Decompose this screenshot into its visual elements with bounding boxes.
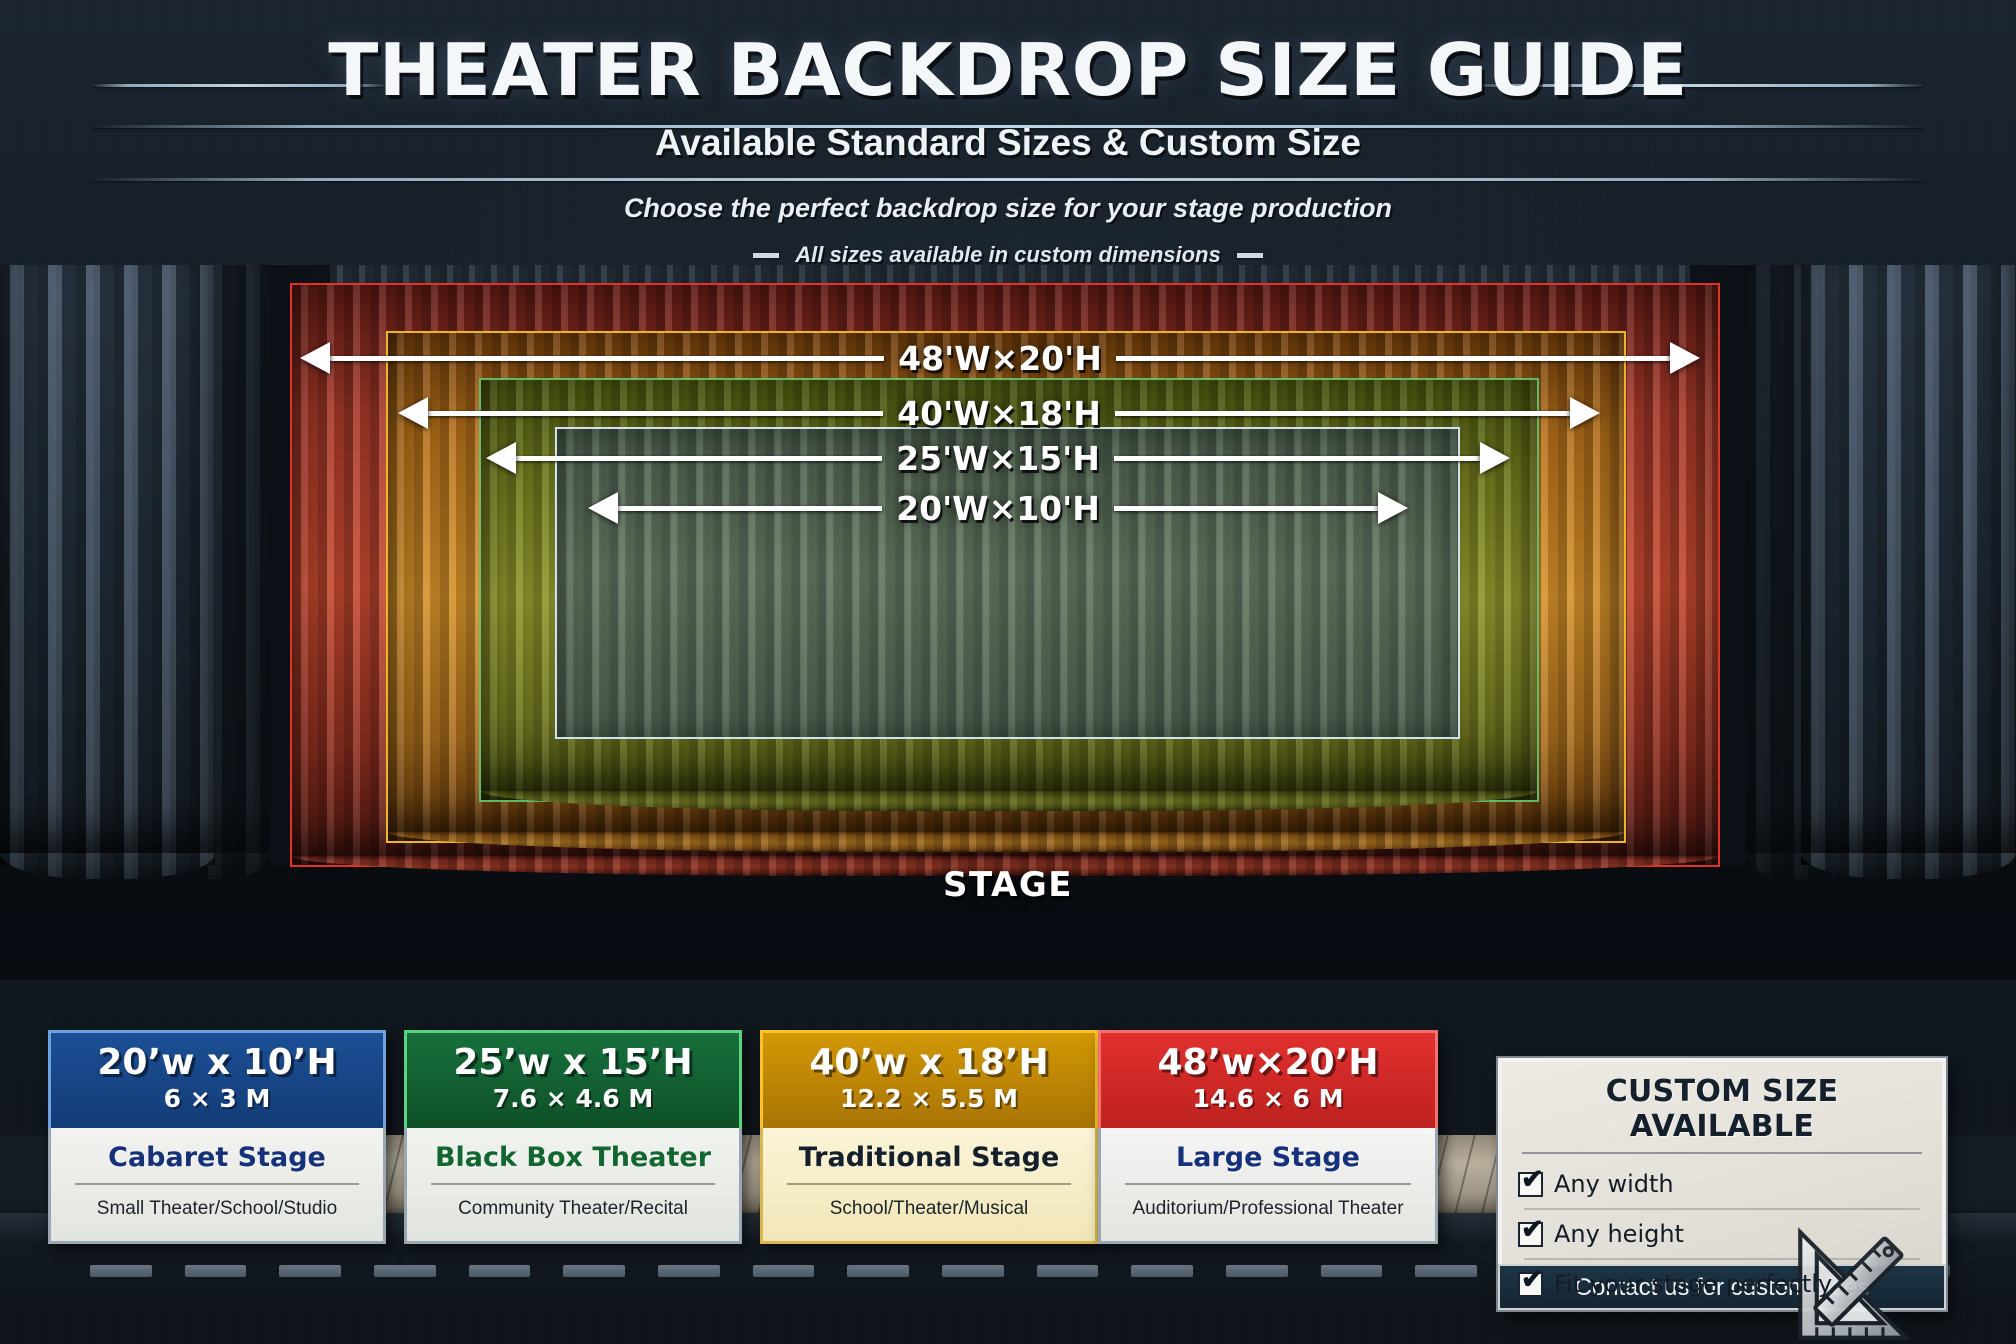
size-card-usage: Small Theater/School/Studio xyxy=(59,1198,375,1220)
custom-size-title: CUSTOM SIZE AVAILABLE xyxy=(1518,1074,1926,1144)
header-rule-mid-2 xyxy=(92,178,1924,181)
size-card-title: Cabaret Stage xyxy=(59,1142,375,1173)
size-card-feet: 48’w×20’H xyxy=(1101,1043,1435,1083)
custom-feature-label: Fit your stage perfectly xyxy=(1554,1270,1832,1298)
custom-feature-any-width[interactable]: Any width xyxy=(1518,1160,1926,1208)
size-card-divider xyxy=(431,1183,715,1185)
size-card-header: 20’w x 10’H 6 × 3 M xyxy=(48,1030,386,1128)
size-card-title: Black Box Theater xyxy=(415,1142,731,1173)
dash-right-icon xyxy=(1237,253,1263,258)
checkbox-checked-icon[interactable] xyxy=(1518,1172,1543,1197)
stage-curtain-leg-outer-left xyxy=(0,265,215,865)
size-card-meters: 12.2 × 5.5 M xyxy=(763,1083,1095,1114)
custom-dimensions-text: All sizes available in custom dimensions xyxy=(795,242,1220,268)
checkbox-checked-icon[interactable] xyxy=(1518,1222,1543,1247)
custom-size-divider xyxy=(1522,1152,1922,1154)
size-card-black-box-theater[interactable]: 25’w x 15’H 7.6 × 4.6 M Black Box Theate… xyxy=(404,1030,742,1244)
size-card-divider xyxy=(787,1183,1071,1185)
page-title: THEATER BACKDROP SIZE GUIDE xyxy=(0,28,2016,112)
custom-feature-label: Any width xyxy=(1554,1170,1674,1198)
custom-feature-fit-stage[interactable]: Fit your stage perfectly xyxy=(1518,1260,1926,1308)
size-card-title: Traditional Stage xyxy=(771,1142,1087,1173)
size-card-feet: 25’w x 15’H xyxy=(407,1043,739,1083)
stage-label: STAGE xyxy=(0,865,2016,905)
custom-size-feature-list: Any width Any height Fit your stage perf… xyxy=(1518,1160,1926,1308)
size-card-usage: Auditorium/Professional Theater xyxy=(1109,1198,1427,1220)
size-card-divider xyxy=(75,1183,359,1185)
page-subtitle: Available Standard Sizes & Custom Size xyxy=(0,122,2016,164)
size-card-meters: 6 × 3 M xyxy=(51,1083,383,1114)
size-card-header: 25’w x 15’H 7.6 × 4.6 M xyxy=(404,1030,742,1128)
custom-feature-any-height[interactable]: Any height xyxy=(1518,1210,1926,1258)
backdrop-rect-20x10[interactable] xyxy=(555,427,1460,739)
size-card-body: Large Stage Auditorium/Professional Thea… xyxy=(1098,1128,1438,1244)
size-card-traditional-stage[interactable]: 40’w x 18’H 12.2 × 5.5 M Traditional Sta… xyxy=(760,1030,1098,1244)
custom-size-panel[interactable]: CUSTOM SIZE AVAILABLE xyxy=(1498,1058,1946,1310)
infographic-poster: THEATER BACKDROP SIZE GUIDE Available St… xyxy=(0,0,2016,1344)
dash-left-icon xyxy=(753,253,779,258)
size-card-feet: 40’w x 18’H xyxy=(763,1043,1095,1083)
stage-curtain-leg-outer-right xyxy=(1801,265,2016,865)
size-card-meters: 7.6 × 4.6 M xyxy=(407,1083,739,1114)
header: THEATER BACKDROP SIZE GUIDE Available St… xyxy=(0,0,2016,268)
size-card-large-stage[interactable]: 48’w×20’H 14.6 × 6 M Large Stage Auditor… xyxy=(1098,1030,1438,1244)
size-card-body: Black Box Theater Community Theater/Reci… xyxy=(404,1128,742,1244)
size-card-body: Cabaret Stage Small Theater/School/Studi… xyxy=(48,1128,386,1244)
custom-feature-label: Any height xyxy=(1554,1220,1684,1248)
size-card-header: 40’w x 18’H 12.2 × 5.5 M xyxy=(760,1030,1098,1128)
size-card-cabaret-stage[interactable]: 20’w x 10’H 6 × 3 M Cabaret Stage Small … xyxy=(48,1030,386,1244)
size-card-meters: 14.6 × 6 M xyxy=(1101,1083,1435,1114)
backdrop-size-overlays xyxy=(290,283,1720,883)
page-tagline: Choose the perfect backdrop size for you… xyxy=(0,193,2016,224)
size-card-body: Traditional Stage School/Theater/Musical xyxy=(760,1128,1098,1244)
custom-dimensions-note: All sizes available in custom dimensions xyxy=(0,242,2016,268)
size-card-title: Large Stage xyxy=(1109,1142,1427,1173)
size-card-divider xyxy=(1125,1183,1411,1185)
checkbox-checked-icon[interactable] xyxy=(1518,1272,1543,1297)
size-card-usage: Community Theater/Recital xyxy=(415,1198,731,1220)
size-card-usage: School/Theater/Musical xyxy=(771,1198,1087,1220)
size-card-header: 48’w×20’H 14.6 × 6 M xyxy=(1098,1030,1438,1128)
size-card-feet: 20’w x 10’H xyxy=(51,1043,383,1083)
